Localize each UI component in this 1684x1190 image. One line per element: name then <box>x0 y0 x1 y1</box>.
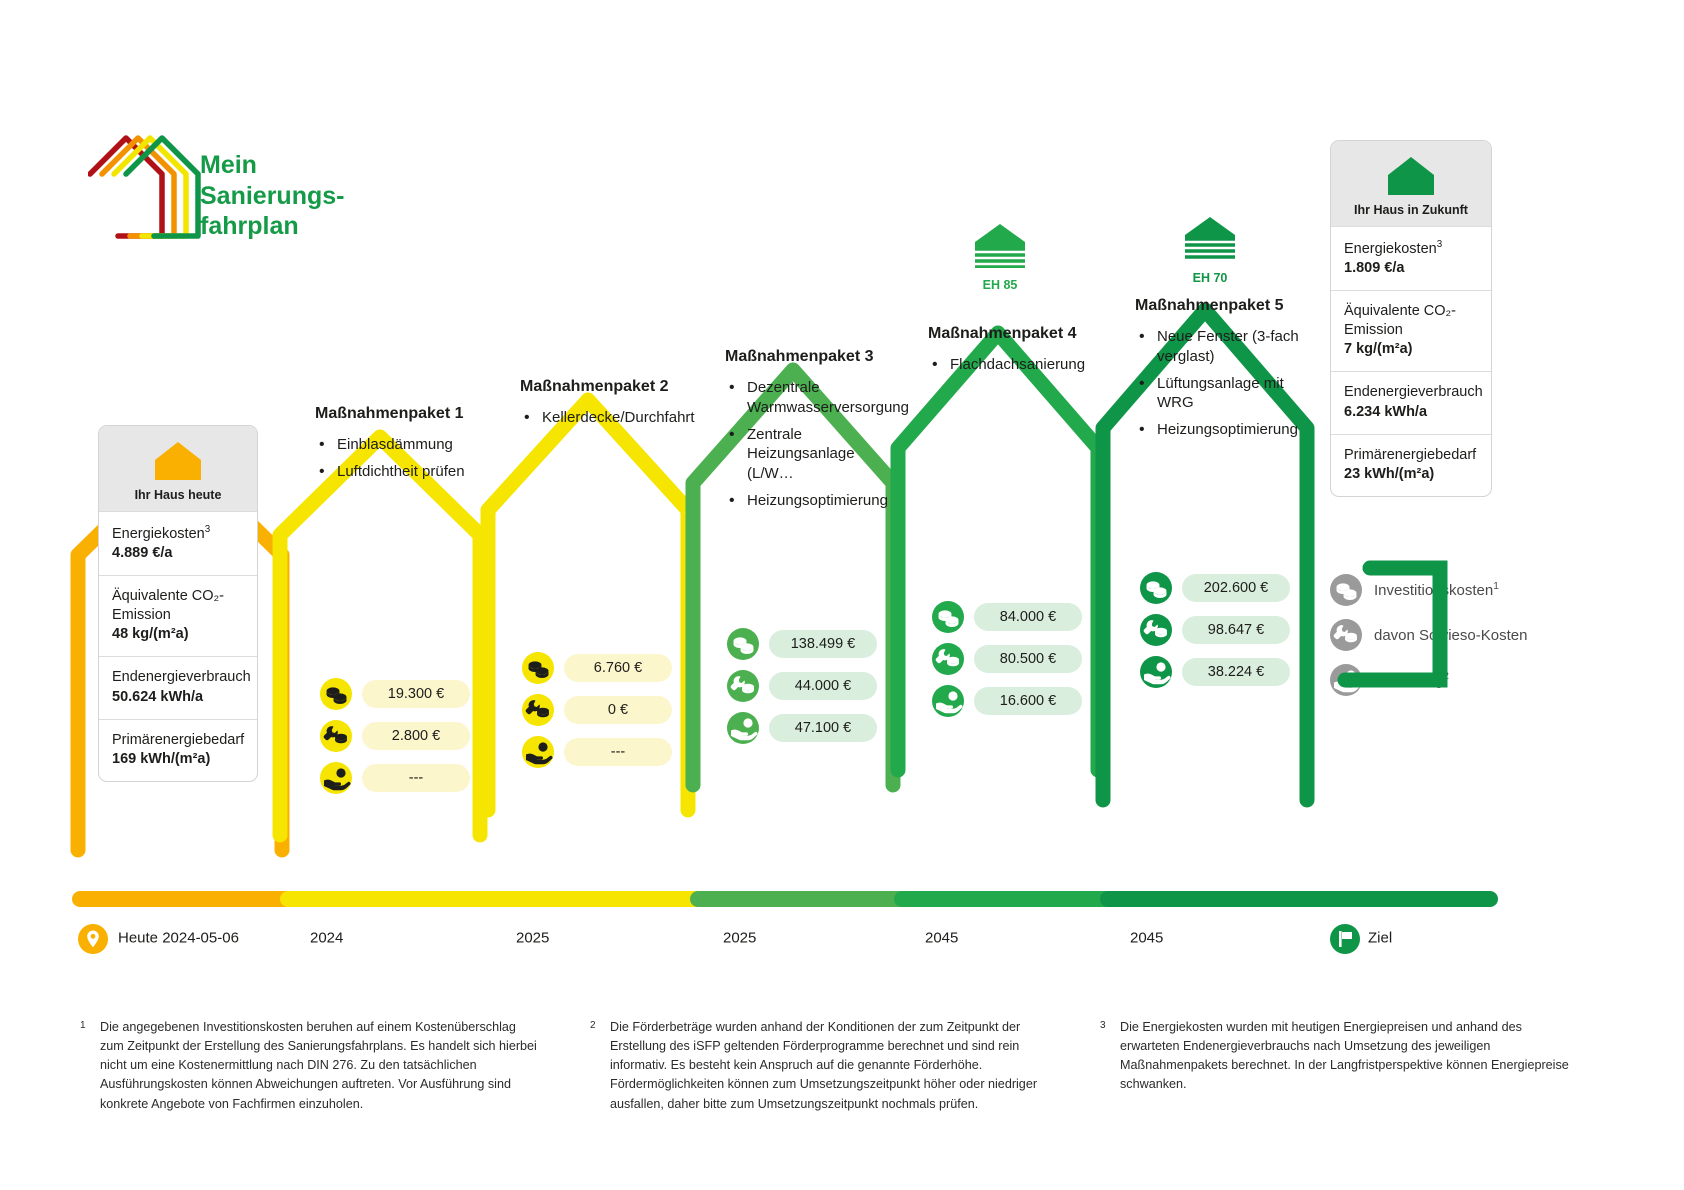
panel-house-future: Ihr Haus in Zukunft Energiekosten3 1.809… <box>1330 140 1492 497</box>
cost-value: 16.600 € <box>974 687 1082 715</box>
hand-coin-icon <box>522 736 554 768</box>
package-5-measures: Neue Fenster (3-fach verglast) Lüftungsa… <box>1135 327 1310 440</box>
row-value: 4.889 €/a <box>112 544 244 563</box>
cost-row-investment: 138.499 € <box>727 628 877 660</box>
wrench-coins-icon <box>320 720 352 752</box>
hand-coin-icon <box>1330 664 1362 696</box>
measure-item: Einblasdämmung <box>315 435 495 455</box>
row-value: 7 kg/(m²a) <box>1344 340 1478 359</box>
row-label: Energiekosten <box>1344 241 1437 257</box>
wrench-coins-icon <box>727 670 759 702</box>
measure-item: Heizungsoptimierung <box>725 491 905 511</box>
cost-value: 138.499 € <box>769 630 877 658</box>
row-value: 23 kWh/(m²a) <box>1344 465 1478 484</box>
cost-row-sowieso: 80.500 € <box>932 643 1082 675</box>
panel-today-head: Ihr Haus heute <box>99 426 257 511</box>
cost-value: 38.224 € <box>1182 658 1290 686</box>
row-label: Primärenergiebedarf <box>1344 447 1476 463</box>
hand-coin-icon <box>1140 656 1172 688</box>
legend-label: davon Sowieso-Kosten <box>1374 626 1527 644</box>
package-4-measures: Flachdachsanierung <box>928 355 1108 375</box>
sanierungsfahrplan-infographic: Mein Sanierungs- fahrplan <box>0 0 1684 1190</box>
footnote-2-text: Die Förderbeträge wurden anhand der Kond… <box>590 1018 1060 1114</box>
cost-value: 44.000 € <box>769 672 877 700</box>
footnote-3-num: 3 <box>1100 1018 1106 1033</box>
package-2-measures: Kellerdecke/Durchfahrt <box>520 408 700 428</box>
package-3-title: Maßnahmenpaket 3 <box>725 348 905 366</box>
cost-value: 84.000 € <box>974 603 1082 631</box>
cost-row-investment: 6.760 € <box>522 652 672 684</box>
panel-today-row-primaerenergie: Primärenergiebedarf 169 kWh/(m²a) <box>99 719 257 781</box>
wrench-coins-icon <box>522 694 554 726</box>
package-3-measures: Dezentrale Warmwasserversorgung Zentrale… <box>725 378 905 511</box>
cost-row-funding: 47.100 € <box>727 712 877 744</box>
footnote-2: 2 Die Förderbeträge wurden anhand der Ko… <box>590 1018 1060 1114</box>
hand-coin-icon <box>932 685 964 717</box>
cost-row-funding: 38.224 € <box>1140 656 1290 688</box>
hand-coin-icon <box>320 762 352 794</box>
eh-label: EH 85 <box>955 278 1045 292</box>
package-4: Maßnahmenpaket 4 Flachdachsanierung <box>928 325 1108 382</box>
cost-value: 6.760 € <box>564 654 672 682</box>
cost-value: 80.500 € <box>974 645 1082 673</box>
row-label: Endenergieverbrauch <box>1344 384 1483 400</box>
row-sup: 3 <box>205 524 210 535</box>
legend-label: Investitionskosten1 <box>1374 581 1499 599</box>
measure-item: Dezentrale Warmwasserversorgung <box>725 378 905 418</box>
hand-coin-icon <box>727 712 759 744</box>
row-label: Energiekosten <box>112 526 205 542</box>
package-2-title: Maßnahmenpaket 2 <box>520 378 700 396</box>
wrench-coins-icon <box>1330 619 1362 651</box>
footnote-2-num: 2 <box>590 1018 596 1033</box>
footnote-3: 3 Die Energiekosten wurden mit heutigen … <box>1100 1018 1570 1095</box>
cost-value: 202.600 € <box>1182 574 1290 602</box>
eh-badge-85: EH 85 <box>955 222 1045 292</box>
package-5: Maßnahmenpaket 5 Neue Fenster (3-fach ve… <box>1135 297 1310 447</box>
measure-item: Zentrale Heizungsanlage (L/W… <box>725 425 905 484</box>
panel-future-row-energiekosten: Energiekosten3 1.809 €/a <box>1331 226 1491 290</box>
row-value: 1.809 €/a <box>1344 259 1478 278</box>
package-5-costs: 202.600 € 98.647 € 38.224 € <box>1140 572 1290 698</box>
package-4-costs: 84.000 € 80.500 € 16.600 € <box>932 601 1082 727</box>
package-4-title: Maßnahmenpaket 4 <box>928 325 1108 343</box>
panel-today-label: Ihr Haus heute <box>109 488 247 502</box>
timeline-tick-2045-a: 2045 <box>925 930 958 947</box>
legend-label: Förderung2 <box>1374 671 1449 689</box>
footnote-1-num: 1 <box>80 1018 86 1033</box>
timeline-start-label: Heute 2024-05-06 <box>118 930 239 947</box>
cost-row-sowieso: 98.647 € <box>1140 614 1290 646</box>
house-icon-today <box>153 440 203 482</box>
row-value: 6.234 kWh/a <box>1344 403 1478 422</box>
panel-future-row-co2: Äquivalente CO₂-Emission 7 kg/(m²a) <box>1331 290 1491 371</box>
row-label: Endenergieverbrauch <box>112 669 251 685</box>
measure-item: Lüftungsanlage mit WRG <box>1135 374 1310 414</box>
package-1-measures: Einblasdämmung Luftdichtheit prüfen <box>315 435 495 482</box>
timeline-tick-2025-b: 2025 <box>723 930 756 947</box>
eh-badge-70: EH 70 <box>1165 215 1255 285</box>
eh-house-icon <box>972 222 1028 274</box>
package-3-costs: 138.499 € 44.000 € 47.100 € <box>727 628 877 754</box>
timeline-end-label: Ziel <box>1368 930 1392 947</box>
cost-row-investment: 202.600 € <box>1140 572 1290 604</box>
cost-row-funding: --- <box>320 762 470 794</box>
package-2-costs: 6.760 € 0 € --- <box>522 652 672 778</box>
package-3: Maßnahmenpaket 3 Dezentrale Warmwasserve… <box>725 348 905 518</box>
timeline-tick-2024: 2024 <box>310 930 343 947</box>
panel-future-row-primaerenergie: Primärenergiebedarf 23 kWh/(m²a) <box>1331 434 1491 496</box>
cost-value: 47.100 € <box>769 714 877 742</box>
legend-row-sowieso-kosten: davon Sowieso-Kosten <box>1330 619 1527 651</box>
cost-value: --- <box>362 764 470 792</box>
cost-row-investment: 84.000 € <box>932 601 1082 633</box>
package-5-title: Maßnahmenpaket 5 <box>1135 297 1310 315</box>
panel-future-row-endenergie: Endenergieverbrauch 6.234 kWh/a <box>1331 371 1491 433</box>
cost-row-sowieso: 44.000 € <box>727 670 877 702</box>
row-value: 48 kg/(m²a) <box>112 625 244 644</box>
measure-item: Heizungsoptimierung <box>1135 420 1310 440</box>
cost-row-sowieso: 0 € <box>522 694 672 726</box>
measure-item: Neue Fenster (3-fach verglast) <box>1135 327 1310 367</box>
wrench-coins-icon <box>1140 614 1172 646</box>
cost-value: 2.800 € <box>362 722 470 750</box>
cost-row-funding: --- <box>522 736 672 768</box>
row-label: Äquivalente CO₂-Emission <box>1344 303 1456 338</box>
row-value: 50.624 kWh/a <box>112 688 244 707</box>
package-2: Maßnahmenpaket 2 Kellerdecke/Durchfahrt <box>520 378 700 435</box>
timeline-tick-2045-b: 2045 <box>1130 930 1163 947</box>
cost-value: 98.647 € <box>1182 616 1290 644</box>
eh-label: EH 70 <box>1165 271 1255 285</box>
cost-value: 19.300 € <box>362 680 470 708</box>
coins-icon <box>1140 572 1172 604</box>
legend: Investitionskosten1 davon Sowieso-Kosten… <box>1330 574 1527 709</box>
legend-row-investitionskosten: Investitionskosten1 <box>1330 574 1527 606</box>
package-1-costs: 19.300 € 2.800 € --- <box>320 678 470 804</box>
package-1-title: Maßnahmenpaket 1 <box>315 405 495 423</box>
cost-row-funding: 16.600 € <box>932 685 1082 717</box>
row-label: Primärenergiebedarf <box>112 732 244 748</box>
eh-house-icon <box>1182 215 1238 267</box>
measure-item: Luftdichtheit prüfen <box>315 462 495 482</box>
panel-house-today: Ihr Haus heute Energiekosten3 4.889 €/a … <box>98 425 258 782</box>
panel-today-row-endenergie: Endenergieverbrauch 50.624 kWh/a <box>99 656 257 718</box>
coins-icon <box>522 652 554 684</box>
cost-row-sowieso: 2.800 € <box>320 720 470 752</box>
house-icon-future <box>1386 155 1436 197</box>
footnote-1-text: Die angegebenen Investitionskosten beruh… <box>80 1018 540 1114</box>
measure-item: Flachdachsanierung <box>928 355 1108 375</box>
panel-future-label: Ihr Haus in Zukunft <box>1341 203 1481 217</box>
cost-row-investment: 19.300 € <box>320 678 470 710</box>
coins-icon <box>727 628 759 660</box>
cost-value: --- <box>564 738 672 766</box>
panel-today-row-energiekosten: Energiekosten3 4.889 €/a <box>99 511 257 575</box>
row-value: 169 kWh/(m²a) <box>112 750 244 769</box>
coins-icon <box>1330 574 1362 606</box>
cost-value: 0 € <box>564 696 672 724</box>
footnote-3-text: Die Energiekosten wurden mit heutigen En… <box>1100 1018 1570 1095</box>
footnote-1: 1 Die angegebenen Investitionskosten ber… <box>80 1018 540 1114</box>
wrench-coins-icon <box>932 643 964 675</box>
coins-icon <box>320 678 352 710</box>
legend-row-foerderung: Förderung2 <box>1330 664 1527 696</box>
flag-icon <box>1330 924 1360 954</box>
panel-future-head: Ihr Haus in Zukunft <box>1331 141 1491 226</box>
location-pin-icon <box>78 924 108 954</box>
coins-icon <box>932 601 964 633</box>
row-label: Äquivalente CO₂-Emission <box>112 588 224 623</box>
row-sup: 3 <box>1437 239 1442 250</box>
panel-today-row-co2: Äquivalente CO₂-Emission 48 kg/(m²a) <box>99 575 257 656</box>
package-1: Maßnahmenpaket 1 Einblasdämmung Luftdich… <box>315 405 495 489</box>
timeline-tick-2025-a: 2025 <box>516 930 549 947</box>
measure-item: Kellerdecke/Durchfahrt <box>520 408 700 428</box>
